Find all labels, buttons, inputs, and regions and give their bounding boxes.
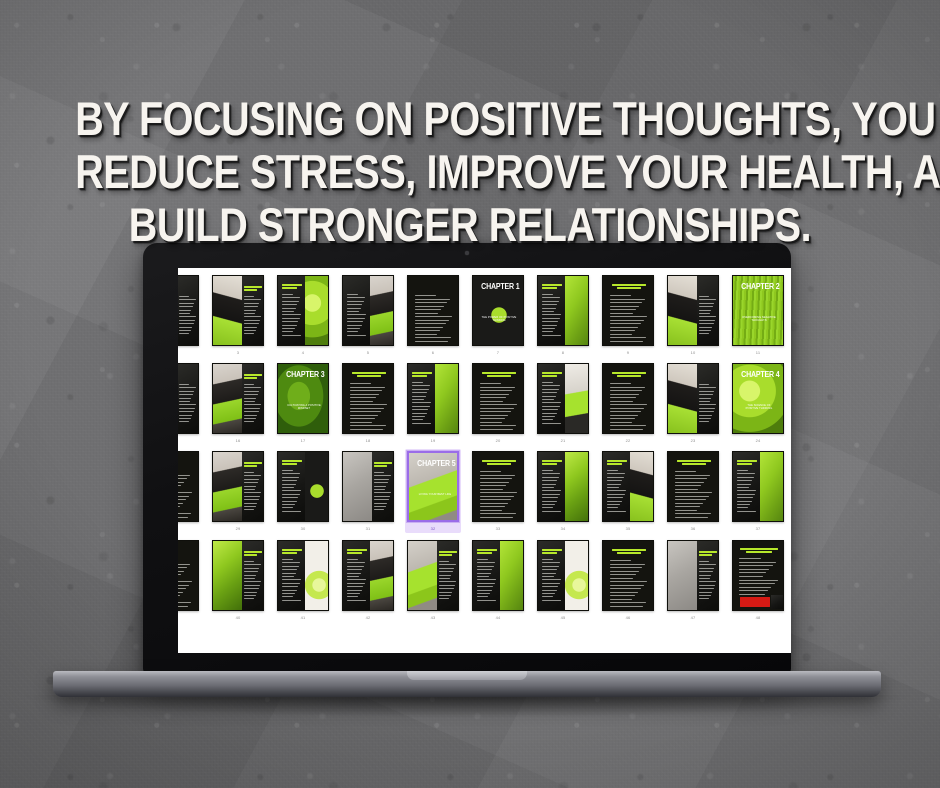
page-thumbnail-cell[interactable]: 39	[178, 538, 201, 621]
page-thumbnail-cell[interactable]: 45	[535, 538, 591, 621]
page-text-line	[282, 501, 297, 502]
page-text-line	[739, 587, 771, 588]
page-heading-rule	[542, 287, 557, 289]
page-text-line	[610, 425, 646, 426]
page-thumbnail[interactable]	[667, 451, 719, 522]
page-heading-rule	[347, 552, 362, 554]
page-text-line	[480, 390, 512, 391]
page-text-line	[542, 311, 554, 312]
page-photo	[759, 452, 784, 522]
page-text-line	[178, 492, 192, 493]
page-text-line	[374, 472, 384, 473]
page-thumbnail[interactable]	[732, 540, 784, 611]
page-number-label: 4	[302, 349, 304, 356]
page-heading-rule	[412, 372, 432, 374]
page-thumbnail[interactable]	[212, 275, 264, 346]
page-thumbnail-cell[interactable]: CHAPTER 4THE SCIENCE OF POSITIVE THINKIN…	[730, 361, 786, 444]
page-text-line	[699, 320, 715, 321]
page-thumbnail-cell[interactable]: 5	[340, 273, 396, 356]
page-thumbnail-cell[interactable]: 35	[600, 449, 656, 532]
page-text-line	[699, 296, 709, 297]
page-text-line	[347, 311, 359, 312]
page-text-line	[178, 567, 187, 568]
page-heading-rule	[682, 463, 706, 465]
page-heading-rule	[244, 554, 257, 556]
page-heading-rule	[487, 463, 511, 465]
page-text-line	[244, 310, 256, 311]
page-heading-rule	[542, 375, 557, 377]
page-thumbnail-cell[interactable]: 9	[600, 273, 656, 356]
page-thumbnail[interactable]	[178, 540, 199, 611]
page-number-label: 44	[496, 614, 501, 621]
chapter-subtitle: CULTIVATING A POSITIVE MINDSET	[286, 404, 322, 411]
page-thumbnail-cell[interactable]: CHAPTER 3CULTIVATING A POSITIVE MINDSET1…	[275, 361, 331, 444]
page-text-line	[699, 303, 714, 304]
page-text-line	[347, 325, 362, 326]
page-number-label: 3	[237, 349, 239, 356]
page-number-label: 31	[366, 525, 371, 532]
laptop-base	[53, 671, 881, 697]
page-heading-rule	[542, 460, 562, 462]
page-text-line	[610, 578, 633, 579]
page-text-line	[675, 499, 706, 500]
page-heading-rule	[244, 289, 257, 291]
page-thumbnail[interactable]: CHAPTER 4THE SCIENCE OF POSITIVE THINKIN…	[732, 363, 784, 434]
page-text-line	[439, 578, 450, 579]
page-thumbnail-cell[interactable]: 6	[405, 273, 461, 356]
page-thumbnail[interactable]	[537, 275, 589, 346]
page-text-line	[244, 384, 254, 385]
page-text-line	[244, 585, 260, 586]
page-text-line	[179, 320, 195, 321]
page-thumbnail-cell[interactable]: 46	[600, 538, 656, 621]
page-thumbnail-cell[interactable]: 43	[405, 538, 461, 621]
page-text-line	[675, 513, 711, 514]
page-text-line	[477, 590, 492, 591]
page-thumbnail[interactable]	[178, 275, 199, 346]
page-text-line	[282, 308, 296, 309]
page-text-line	[480, 485, 506, 486]
page-text-line	[477, 573, 491, 574]
page-thumbnail[interactable]	[602, 451, 654, 522]
page-text-line	[699, 561, 709, 562]
page-text-line	[347, 308, 361, 309]
page-text-line	[480, 397, 506, 398]
page-text-line	[477, 583, 495, 584]
page-text-line	[607, 494, 625, 495]
page-thumbnail[interactable]	[342, 363, 394, 434]
page-grid-row: 23456CHAPTER 1THE POWER OF POSITIVE THIN…	[178, 268, 791, 356]
page-text-line	[607, 484, 621, 485]
page-text-line	[282, 494, 300, 495]
page-photo	[564, 364, 589, 434]
page-thumbnail[interactable]	[537, 451, 589, 522]
page-thumbnail[interactable]	[667, 540, 719, 611]
page-text-line	[675, 471, 696, 472]
page-text-line	[607, 511, 626, 512]
page-text-line	[282, 328, 295, 329]
page-thumbnail-cell[interactable]: 29	[210, 449, 266, 532]
page-heading-rule	[352, 372, 386, 374]
page-text-line	[282, 593, 295, 594]
page-text-line	[480, 425, 516, 426]
page-text-line	[480, 517, 513, 518]
page-text-line	[179, 408, 195, 409]
page-photo	[668, 541, 697, 611]
page-text-line	[675, 492, 712, 493]
page-thumbnail-cell[interactable]: 22	[600, 361, 656, 444]
page-text-line	[244, 578, 255, 579]
page-thumbnail-cell[interactable]: 34	[535, 449, 591, 532]
page-text-line	[699, 401, 710, 402]
page-text-line	[480, 429, 513, 430]
page-thumbnail-cell[interactable]: 3	[210, 273, 266, 356]
page-thumbnail[interactable]: CHAPTER 3CULTIVATING A POSITIVE MINDSET	[277, 363, 329, 434]
page-text-panel	[697, 276, 719, 346]
page-thumbnail-selected[interactable]: CHAPTER 5LIVING YOUR BEST LIFE32	[405, 449, 461, 533]
page-text-line	[480, 422, 502, 423]
page-text-line	[374, 486, 386, 487]
page-heading-rule	[244, 377, 257, 379]
page-text-line	[610, 327, 638, 328]
page-text-line	[699, 391, 714, 392]
page-thumbnail-cell[interactable]: 19	[405, 361, 461, 444]
page-heading-rule	[699, 554, 712, 556]
page-thumbnail[interactable]	[342, 275, 394, 346]
page-thumbnail[interactable]	[602, 540, 654, 611]
page-number-label: 18	[366, 437, 371, 444]
page-text-line	[480, 471, 501, 472]
page-text-line	[244, 496, 260, 497]
page-text-line	[347, 576, 359, 577]
pdf-page-grid-viewer[interactable]: 23456CHAPTER 1THE POWER OF POSITIVE THIN…	[178, 268, 791, 653]
page-text-line	[737, 470, 748, 471]
page-heading-rule	[374, 465, 387, 467]
page-text-line	[347, 583, 365, 584]
page-number-label: 8	[562, 349, 564, 356]
page-heading-rule	[244, 286, 262, 288]
page-thumbnail-cell[interactable]: 20	[470, 361, 526, 444]
page-text-line	[610, 337, 646, 338]
page-text-line	[412, 423, 431, 424]
page-text-line	[699, 327, 712, 328]
page-heading-rule	[282, 552, 297, 554]
page-heading-rule	[374, 462, 392, 464]
page-text-line	[179, 415, 192, 416]
page-text-line	[542, 325, 557, 326]
page-thumbnail-cell[interactable]: 10	[665, 273, 721, 356]
page-text-line	[610, 404, 647, 405]
poster-canvas: BY FOCUSING ON POSITIVE THOUGHTS, YOU CA…	[0, 0, 940, 788]
page-text-line	[178, 482, 184, 483]
page-thumbnail-cell[interactable]: 21	[535, 361, 591, 444]
page-heading-rule	[487, 375, 511, 377]
page-text-line	[542, 406, 560, 407]
page-text-line	[374, 479, 389, 480]
page-text-line	[675, 478, 707, 479]
page-text-line	[282, 583, 300, 584]
page-text-line	[480, 513, 516, 514]
page-text-line	[542, 487, 554, 488]
page-text-line	[179, 327, 192, 328]
page-text-line	[347, 335, 366, 336]
page-text-line	[480, 489, 503, 490]
page-heading-rule	[244, 465, 257, 467]
page-text-line	[675, 503, 703, 504]
page-text-line	[374, 489, 385, 490]
page-text-line	[739, 562, 776, 563]
page-thumbnail[interactable]	[537, 540, 589, 611]
page-text-line	[610, 323, 641, 324]
page-text-line	[282, 504, 295, 505]
page-text-line	[607, 504, 620, 505]
chapter-subtitle: OVERCOMING NEGATIVE THOUGHTS	[741, 316, 777, 323]
page-thumbnail[interactable]: CHAPTER 2OVERCOMING NEGATIVE THOUGHTS	[732, 275, 784, 346]
page-number-label: 11	[756, 349, 761, 356]
page-text-line	[350, 422, 372, 423]
page-thumbnail-cell[interactable]: 4	[275, 273, 331, 356]
page-heading-rule	[244, 551, 262, 553]
page-thumbnail-cell[interactable]: 44	[470, 538, 526, 621]
page-thumbnail-cell[interactable]: 33	[470, 449, 526, 532]
page-text-line	[350, 425, 386, 426]
page-text-line	[542, 573, 556, 574]
page-thumbnail-cell[interactable]: 40	[210, 538, 266, 621]
page-text-line	[542, 477, 559, 478]
page-heading-rule	[244, 462, 262, 464]
page-number-label: 23	[691, 437, 696, 444]
page-thumbnail[interactable]	[277, 540, 329, 611]
page-thumbnail-cell[interactable]: 31	[340, 449, 396, 532]
page-thumbnail-cell[interactable]: 42	[340, 538, 396, 621]
page-text-line	[415, 306, 444, 307]
page-grid-row: 1616CHAPTER 3CULTIVATING A POSITIVE MIND…	[178, 356, 791, 444]
page-heading-rule	[282, 463, 297, 465]
page-text-line	[282, 294, 293, 295]
page-thumbnail[interactable]	[212, 451, 264, 522]
page-text-line	[480, 415, 508, 416]
page-text-line	[675, 510, 697, 511]
page-thumbnail[interactable]	[537, 363, 589, 434]
page-text-line	[244, 327, 257, 328]
page-text-line	[480, 411, 511, 412]
page-text-line	[347, 566, 364, 567]
page-text-line	[610, 309, 636, 310]
page-thumbnail[interactable]	[277, 451, 329, 522]
page-heading-rule	[542, 552, 557, 554]
page-text-line	[244, 592, 257, 593]
page-heading-rule	[542, 372, 562, 374]
page-text-line	[439, 585, 455, 586]
page-text-line	[610, 408, 644, 409]
page-number-label: 37	[756, 525, 761, 532]
page-text-line	[347, 559, 358, 560]
page-thumbnail[interactable]	[472, 363, 524, 434]
page-text-line	[699, 415, 712, 416]
page-heading-rule	[439, 551, 457, 553]
page-text-panel	[178, 364, 199, 434]
page-text-line	[542, 294, 553, 295]
page-thumbnail[interactable]	[342, 451, 394, 522]
page-number-label: 20	[496, 437, 501, 444]
page-text-line	[675, 489, 698, 490]
page-text-line	[610, 418, 635, 419]
page-thumbnail[interactable]	[212, 363, 264, 434]
page-text-line	[699, 595, 711, 596]
page-thumbnail[interactable]	[732, 451, 784, 522]
page-text-line	[610, 588, 641, 589]
page-thumbnail[interactable]	[178, 451, 199, 522]
page-heading-rule	[282, 287, 297, 289]
page-thumbnail-cell[interactable]: 16	[210, 361, 266, 444]
page-text-line	[439, 568, 454, 569]
page-thumbnail-cell[interactable]: 16	[178, 361, 201, 444]
page-thumbnail[interactable]	[602, 275, 654, 346]
page-number-label: 42	[366, 614, 371, 621]
page-text-line	[610, 560, 631, 561]
page-text-line	[480, 408, 514, 409]
page-thumbnail-cell[interactable]: 2	[178, 273, 201, 356]
page-photo	[343, 452, 372, 522]
page-number-label: 10	[691, 349, 696, 356]
page-photo	[304, 541, 329, 611]
page-text-line	[739, 565, 773, 566]
page-heading-rule	[740, 548, 778, 550]
page-text-line	[739, 590, 768, 591]
page-thumbnail[interactable]	[667, 363, 719, 434]
page-text-line	[675, 482, 704, 483]
page-text-line	[179, 418, 191, 419]
page-thumbnail[interactable]	[667, 275, 719, 346]
page-number-label: 43	[431, 614, 436, 621]
page-photo	[668, 276, 697, 346]
page-text-line	[739, 569, 769, 570]
page-text-line	[480, 496, 514, 497]
page-thumbnail-cell[interactable]: 41	[275, 538, 331, 621]
page-text-line	[350, 401, 373, 402]
page-thumbnail[interactable]	[277, 275, 329, 346]
page-thumbnail-cell[interactable]: 36	[665, 449, 721, 532]
page-thumbnail[interactable]	[407, 540, 459, 611]
page-thumbnail-cell[interactable]: CHAPTER 1THE POWER OF POSITIVE THINKING7	[470, 273, 526, 356]
page-number-label: 17	[301, 437, 306, 444]
page-heading-rule	[617, 287, 641, 289]
page-text-line	[282, 576, 294, 577]
page-photo	[629, 452, 654, 522]
page-photo	[369, 276, 394, 346]
page-heading-rule	[439, 554, 452, 556]
page-number-label: 46	[626, 614, 631, 621]
page-text-line	[244, 479, 259, 480]
page-text-line	[282, 477, 299, 478]
page-text-line	[374, 503, 387, 504]
page-text-line	[178, 564, 190, 565]
chapter-title: CHAPTER 5	[415, 460, 455, 468]
page-text-line	[178, 606, 188, 607]
page-thumbnail-cell[interactable]: 28	[178, 449, 201, 532]
page-thumbnail[interactable]	[407, 363, 459, 434]
page-text-line	[675, 496, 709, 497]
page-thumbnail-cell[interactable]: 48	[730, 538, 786, 621]
page-text-line	[542, 382, 553, 383]
page-number-label: 34	[561, 525, 566, 532]
page-text-line	[178, 513, 191, 514]
page-thumbnail-cell[interactable]: 23	[665, 361, 721, 444]
page-text-line	[347, 318, 365, 319]
page-text-line	[179, 310, 191, 311]
page-number-label: 21	[561, 437, 566, 444]
page-text-line	[179, 303, 194, 304]
page-text-line	[610, 599, 632, 600]
page-text-line	[699, 575, 711, 576]
page-number-label: 48	[756, 614, 761, 621]
page-thumbnail-cell[interactable]: 47	[665, 538, 721, 621]
page-text-line	[415, 323, 446, 324]
page-text-line	[244, 296, 254, 297]
page-heading-rule	[482, 372, 516, 374]
page-photo	[564, 452, 589, 522]
page-heading-rule	[607, 460, 627, 462]
page-number-label: 29	[236, 525, 241, 532]
page-thumbnail[interactable]	[472, 451, 524, 522]
page-thumbnail-cell[interactable]: CHAPTER 2OVERCOMING NEGATIVE THOUGHTS11	[730, 273, 786, 356]
page-thumbnail-cell[interactable]: 18	[340, 361, 396, 444]
page-text-line	[350, 411, 381, 412]
page-number-label: 6	[432, 349, 434, 356]
page-thumbnail[interactable]	[342, 540, 394, 611]
page-thumbnail[interactable]: CHAPTER 1THE POWER OF POSITIVE THINKING	[472, 275, 524, 346]
page-text-line	[542, 504, 555, 505]
page-thumbnail[interactable]: CHAPTER 5LIVING YOUR BEST LIFE	[407, 451, 459, 522]
page-thumbnail[interactable]	[602, 363, 654, 434]
page-thumbnail[interactable]	[212, 540, 264, 611]
page-number-label: 45	[561, 614, 566, 621]
page-thumbnail[interactable]	[178, 363, 199, 434]
page-thumbnail-cell[interactable]: 37	[730, 449, 786, 532]
page-thumbnail-cell[interactable]: 30	[275, 449, 331, 532]
cta-banner[interactable]	[740, 597, 770, 607]
page-thumbnail[interactable]	[407, 275, 459, 346]
page-thumbnail[interactable]	[472, 540, 524, 611]
page-text-line	[480, 510, 502, 511]
page-text-line	[542, 318, 560, 319]
page-text-line	[610, 313, 633, 314]
page-text-line	[178, 592, 183, 593]
page-heading-rule	[746, 551, 772, 553]
page-text-line	[282, 559, 293, 560]
page-number-label: 16	[236, 437, 241, 444]
page-text-line	[610, 571, 639, 572]
page-text-line	[415, 341, 448, 342]
page-text-line	[480, 401, 503, 402]
page-text-line	[347, 328, 360, 329]
page-text-line	[542, 576, 554, 577]
page-text-line	[178, 571, 184, 572]
page-text-line	[699, 592, 712, 593]
page-text-line	[178, 517, 188, 518]
page-text-line	[542, 328, 555, 329]
page-heading-rule	[477, 552, 492, 554]
page-text-line	[347, 593, 360, 594]
page-text-line	[699, 408, 715, 409]
page-thumbnail-cell[interactable]: 8	[535, 273, 591, 356]
page-text-line	[347, 600, 366, 601]
page-heading-rule	[542, 549, 562, 551]
page-text-line	[415, 316, 452, 317]
page-text-line	[607, 501, 622, 502]
page-text-line	[739, 583, 775, 584]
page-number-label: 40	[236, 614, 241, 621]
